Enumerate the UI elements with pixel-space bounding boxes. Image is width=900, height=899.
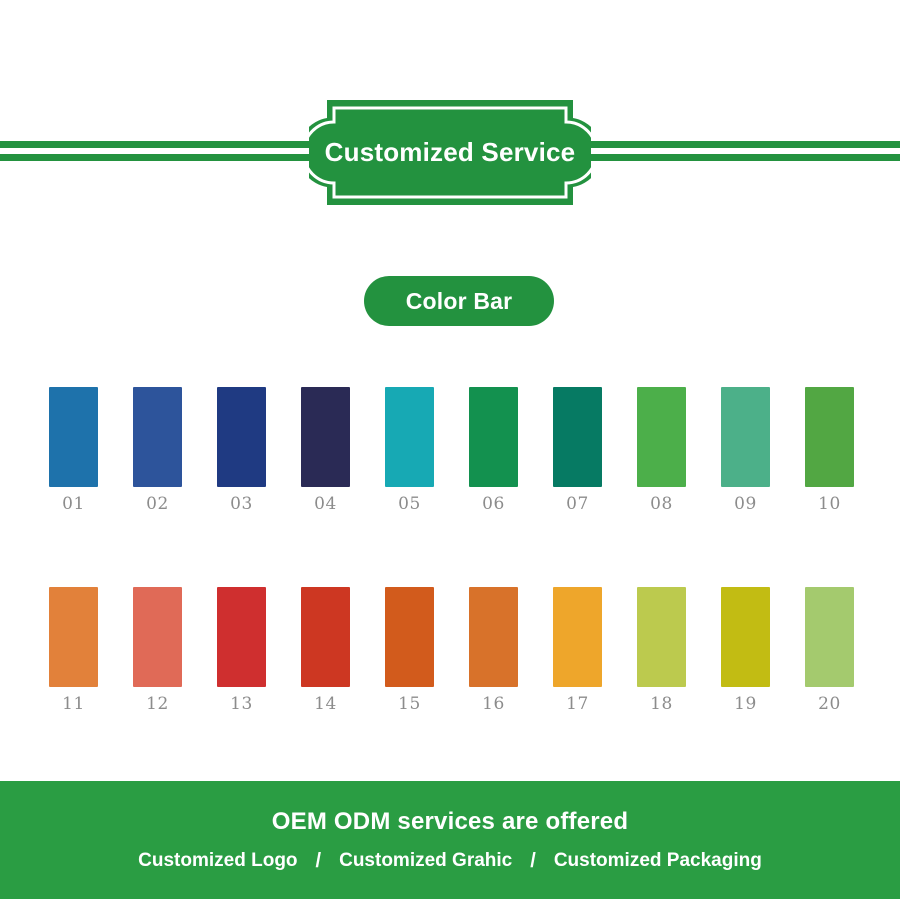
color-swatch-11[interactable]: 11 bbox=[49, 587, 98, 717]
color-swatch-number: 07 bbox=[566, 494, 589, 514]
color-swatch-05[interactable]: 05 bbox=[385, 387, 434, 517]
page-title: Customized Service bbox=[309, 100, 591, 205]
color-swatch-08[interactable]: 08 bbox=[637, 387, 686, 517]
color-swatch-number: 12 bbox=[146, 694, 169, 714]
color-swatch-number: 15 bbox=[398, 694, 421, 714]
color-swatch-07[interactable]: 07 bbox=[553, 387, 602, 517]
color-swatch-number: 14 bbox=[314, 694, 337, 714]
color-swatch-chip[interactable] bbox=[133, 587, 182, 687]
color-swatch-number: 20 bbox=[818, 694, 841, 714]
color-swatch-number: 01 bbox=[62, 494, 85, 514]
color-swatch-chip[interactable] bbox=[805, 587, 854, 687]
color-swatch-chip[interactable] bbox=[469, 387, 518, 487]
color-swatch-chip[interactable] bbox=[637, 387, 686, 487]
color-swatch-number: 17 bbox=[566, 694, 589, 714]
color-swatch-12[interactable]: 12 bbox=[133, 587, 182, 717]
footer-service-item: Customized Logo bbox=[138, 850, 297, 872]
color-swatch-chip[interactable] bbox=[301, 387, 350, 487]
color-swatch-16[interactable]: 16 bbox=[469, 587, 518, 717]
color-swatch-chip[interactable] bbox=[721, 387, 770, 487]
footer-service-item: Customized Packaging bbox=[554, 850, 762, 872]
color-swatch-14[interactable]: 14 bbox=[301, 587, 350, 717]
color-swatch-chip[interactable] bbox=[385, 387, 434, 487]
color-swatch-row-warm: 11121314151617181920 bbox=[49, 587, 854, 717]
color-swatch-chip[interactable] bbox=[637, 587, 686, 687]
color-swatch-number: 13 bbox=[230, 694, 253, 714]
footer-separator: / bbox=[530, 850, 536, 873]
color-swatch-chip[interactable] bbox=[721, 587, 770, 687]
color-swatch-number: 11 bbox=[62, 694, 85, 714]
color-swatch-chip[interactable] bbox=[49, 387, 98, 487]
color-swatch-number: 10 bbox=[818, 494, 841, 514]
product-customized-service-banner: Customized Service Color Bar 01020304050… bbox=[0, 0, 900, 899]
color-swatch-number: 18 bbox=[650, 694, 673, 714]
color-swatch-number: 06 bbox=[482, 494, 505, 514]
color-swatch-chip[interactable] bbox=[133, 387, 182, 487]
color-swatch-number: 09 bbox=[734, 494, 757, 514]
color-swatch-number: 16 bbox=[482, 694, 505, 714]
color-swatch-19[interactable]: 19 bbox=[721, 587, 770, 717]
color-swatch-chip[interactable] bbox=[217, 587, 266, 687]
color-swatch-01[interactable]: 01 bbox=[49, 387, 98, 517]
footer-service-item: Customized Grahic bbox=[339, 850, 512, 872]
header-banner: Customized Service bbox=[0, 100, 900, 205]
color-swatch-03[interactable]: 03 bbox=[217, 387, 266, 517]
color-swatch-17[interactable]: 17 bbox=[553, 587, 602, 717]
color-bar-section-heading: Color Bar bbox=[364, 276, 554, 326]
color-swatch-chip[interactable] bbox=[385, 587, 434, 687]
color-swatch-15[interactable]: 15 bbox=[385, 587, 434, 717]
color-swatch-row-cool: 01020304050607080910 bbox=[49, 387, 854, 517]
color-swatch-number: 04 bbox=[314, 494, 337, 514]
color-swatch-number: 02 bbox=[146, 494, 169, 514]
color-swatch-chip[interactable] bbox=[553, 587, 602, 687]
color-swatch-chip[interactable] bbox=[301, 587, 350, 687]
color-swatch-chip[interactable] bbox=[49, 587, 98, 687]
color-swatch-04[interactable]: 04 bbox=[301, 387, 350, 517]
color-swatch-number: 19 bbox=[734, 694, 757, 714]
header-plaque: Customized Service bbox=[309, 100, 591, 205]
color-swatch-number: 05 bbox=[398, 494, 421, 514]
color-swatch-number: 08 bbox=[650, 494, 673, 514]
color-swatch-chip[interactable] bbox=[217, 387, 266, 487]
footer-banner: OEM ODM services are offered Customized … bbox=[0, 781, 900, 899]
footer-services-list: Customized Logo/Customized Grahic/Custom… bbox=[138, 850, 762, 873]
footer-headline: OEM ODM services are offered bbox=[272, 808, 628, 836]
color-swatch-chip[interactable] bbox=[553, 387, 602, 487]
color-swatch-18[interactable]: 18 bbox=[637, 587, 686, 717]
color-swatch-09[interactable]: 09 bbox=[721, 387, 770, 517]
color-swatch-06[interactable]: 06 bbox=[469, 387, 518, 517]
color-swatch-02[interactable]: 02 bbox=[133, 387, 182, 517]
color-swatch-13[interactable]: 13 bbox=[217, 587, 266, 717]
color-swatch-number: 03 bbox=[230, 494, 253, 514]
color-swatch-chip[interactable] bbox=[805, 387, 854, 487]
color-swatch-chip[interactable] bbox=[469, 587, 518, 687]
footer-separator: / bbox=[316, 850, 322, 873]
color-swatch-20[interactable]: 20 bbox=[805, 587, 854, 717]
color-swatch-10[interactable]: 10 bbox=[805, 387, 854, 517]
color-bar-label: Color Bar bbox=[406, 288, 513, 315]
